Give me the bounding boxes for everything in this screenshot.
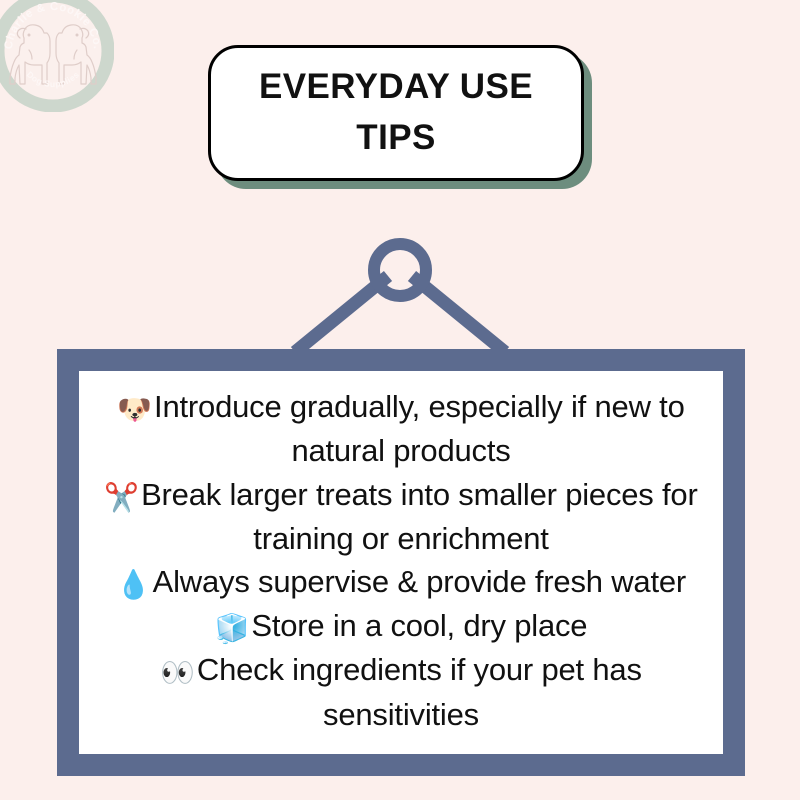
svg-text:Dog Supplies: Dog Supplies [25,69,82,89]
hanger-ring-icon [374,244,426,296]
list-item: ✂️Break larger treats into smaller piece… [89,473,713,561]
dog-face-icon: 🐶 [117,394,152,425]
sign-hanger [280,232,520,356]
ice-cube-icon: 🧊 [215,613,250,644]
tips-sign-board: 🐶Introduce gradually, especially if new … [57,349,745,776]
title-banner: EVERYDAY USE TIPS [208,45,592,189]
banner-title-line2: TIPS [356,118,435,157]
svg-text:Charlie & Cookie Co.: Charlie & Cookie Co. [3,1,103,50]
page-title: EVERYDAY USE TIPS [237,62,555,164]
hanger-arms-icon [295,276,505,352]
tip-text: Check ingredients if your pet has sensit… [197,652,642,731]
brand-logo-watermark: Charlie & Cookie Co. Dog Supplies [0,0,114,112]
tip-text: Store in a cool, dry place [251,608,587,643]
scissors-icon: ✂️ [104,482,139,513]
tip-text: Introduce gradually, especially if new t… [154,389,685,468]
list-item: 💧Always supervise & provide fresh water [89,560,713,604]
water-drop-icon: 💧 [116,569,151,600]
banner-card: EVERYDAY USE TIPS [208,45,584,181]
list-item: 👀Check ingredients if your pet has sensi… [89,648,713,736]
tips-sign-inner: 🐶Introduce gradually, especially if new … [79,371,723,754]
banner-title-line1: EVERYDAY USE [259,67,533,106]
eyes-icon: 👀 [160,657,195,688]
tip-text: Always supervise & provide fresh water [153,564,686,599]
list-item: 🧊Store in a cool, dry place [89,604,713,648]
tips-list: 🐶Introduce gradually, especially if new … [89,385,713,736]
list-item: 🐶Introduce gradually, especially if new … [89,385,713,473]
tip-text: Break larger treats into smaller pieces … [141,477,698,556]
